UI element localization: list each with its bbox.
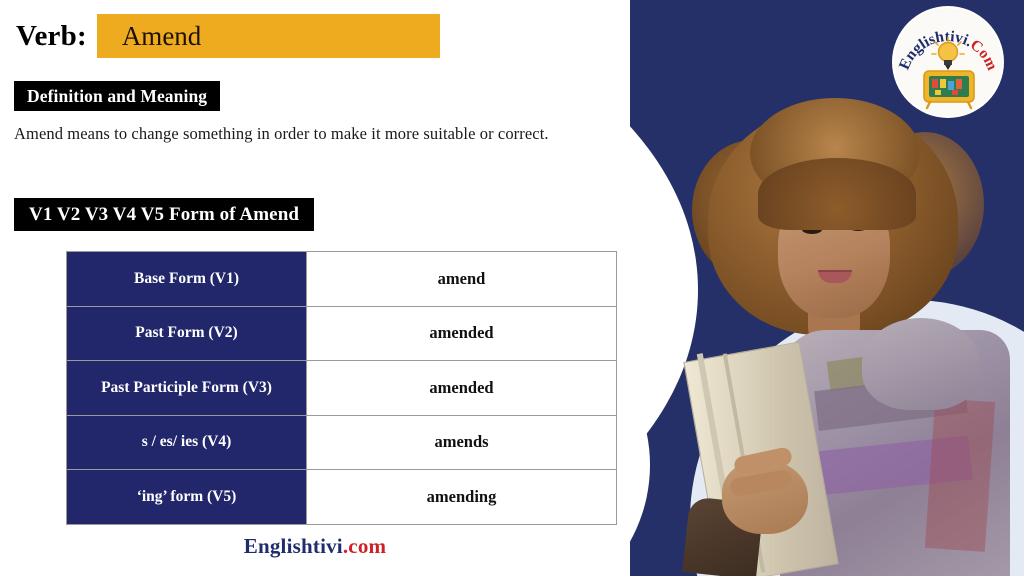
verb-highlight-box: Amend (97, 14, 440, 58)
table-row: ‘ing’ form (V5) amending (67, 470, 617, 525)
table-cell-label: s / es/ ies (V4) (67, 415, 307, 470)
table-row: Past Participle Form (V3) amended (67, 361, 617, 416)
table-row: Past Form (V2) amended (67, 306, 617, 361)
table-cell-value: amended (307, 306, 617, 361)
television-icon (924, 71, 974, 108)
table-row: s / es/ ies (V4) amends (67, 415, 617, 470)
table-cell-value: amend (307, 252, 617, 307)
table-cell-label: ‘ing’ form (V5) (67, 470, 307, 525)
table-cell-value: amending (307, 470, 617, 525)
content-column: Verb: Amend Definition and Meaning Amend… (0, 0, 640, 576)
englishtivi-logo[interactable]: Englishtivi.Com (894, 8, 1002, 116)
table-row: Base Form (V1) amend (67, 252, 617, 307)
verb-forms-table-body: Base Form (V1) amend Past Form (V2) amen… (67, 252, 617, 525)
footer-brand: Englishtivi.com (0, 534, 630, 559)
footer-brand-name: Englishtivi (244, 534, 343, 558)
verb-word: Amend (97, 21, 201, 52)
table-cell-label: Past Participle Form (V3) (67, 361, 307, 416)
table-cell-label: Past Form (V2) (67, 306, 307, 361)
forms-heading: V1 V2 V3 V4 V5 Form of Amend (14, 198, 314, 231)
verb-row: Verb: Amend (16, 14, 440, 58)
slide-canvas: Englishtivi.Com (0, 0, 1024, 576)
halo-disc (690, 300, 1024, 576)
footer-brand-tld: .com (343, 534, 386, 558)
table-cell-label: Base Form (V1) (67, 252, 307, 307)
verb-label: Verb: (16, 20, 87, 53)
table-cell-value: amends (307, 415, 617, 470)
definition-heading: Definition and Meaning (14, 81, 220, 111)
verb-forms-table: Base Form (V1) amend Past Form (V2) amen… (66, 251, 617, 525)
definition-text: Amend means to change something in order… (14, 124, 549, 144)
table-cell-value: amended (307, 361, 617, 416)
logo-artwork: Englishtivi.Com (894, 8, 1002, 116)
